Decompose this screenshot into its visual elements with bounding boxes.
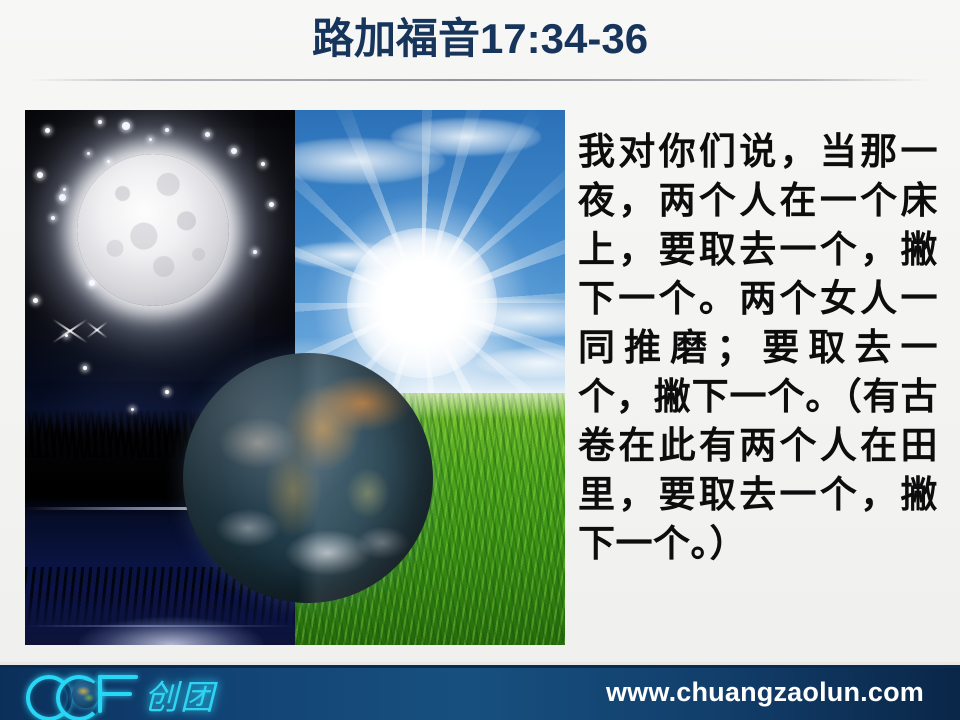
star-icon bbox=[87, 152, 90, 155]
logo-mark: 创团 bbox=[26, 672, 186, 716]
earth-terminator bbox=[183, 353, 433, 603]
star-icon bbox=[205, 132, 210, 137]
website-url[interactable]: www.chuangzaolun.com bbox=[606, 668, 924, 717]
star-icon bbox=[51, 216, 55, 220]
logo-globe-icon bbox=[72, 681, 99, 708]
star-icon bbox=[269, 202, 274, 207]
star-icon bbox=[261, 162, 265, 166]
star-icon bbox=[45, 128, 50, 133]
star-icon bbox=[89, 280, 95, 286]
star-icon bbox=[37, 172, 43, 178]
slide-image bbox=[25, 110, 565, 645]
star-icon bbox=[59, 194, 66, 201]
title-zone: 路加福音17:34-36 bbox=[0, 0, 960, 80]
night-water-glow bbox=[79, 589, 263, 645]
star-icon bbox=[149, 138, 152, 141]
star-icon bbox=[63, 188, 66, 191]
earth-globe-icon bbox=[183, 353, 433, 603]
sparkle-icon bbox=[83, 316, 111, 344]
star-icon bbox=[231, 148, 237, 154]
moon-icon bbox=[77, 154, 229, 306]
title-divider bbox=[30, 79, 930, 81]
star-icon bbox=[83, 366, 87, 370]
page-title: 路加福音17:34-36 bbox=[0, 12, 960, 66]
star-icon bbox=[107, 160, 110, 163]
slide: 路加福音17:34-36 bbox=[0, 0, 960, 720]
star-icon bbox=[33, 298, 38, 303]
star-icon bbox=[165, 128, 169, 132]
verse-text: 我对你们说，当那一夜，两个人在一个床上，要取去一个，撇下一个。两个女人一同推磨；… bbox=[578, 127, 938, 568]
star-icon bbox=[253, 250, 257, 254]
logo-f-icon bbox=[98, 675, 140, 713]
brand-logo[interactable]: 创团 bbox=[26, 671, 186, 717]
logo-chinese-name: 创团 bbox=[144, 670, 216, 719]
footer-bar: 创团 www.chuangzaolun.com bbox=[0, 665, 960, 720]
star-icon bbox=[122, 122, 130, 130]
star-icon bbox=[165, 390, 169, 394]
cloud-icon bbox=[391, 118, 541, 156]
star-icon bbox=[98, 120, 102, 124]
